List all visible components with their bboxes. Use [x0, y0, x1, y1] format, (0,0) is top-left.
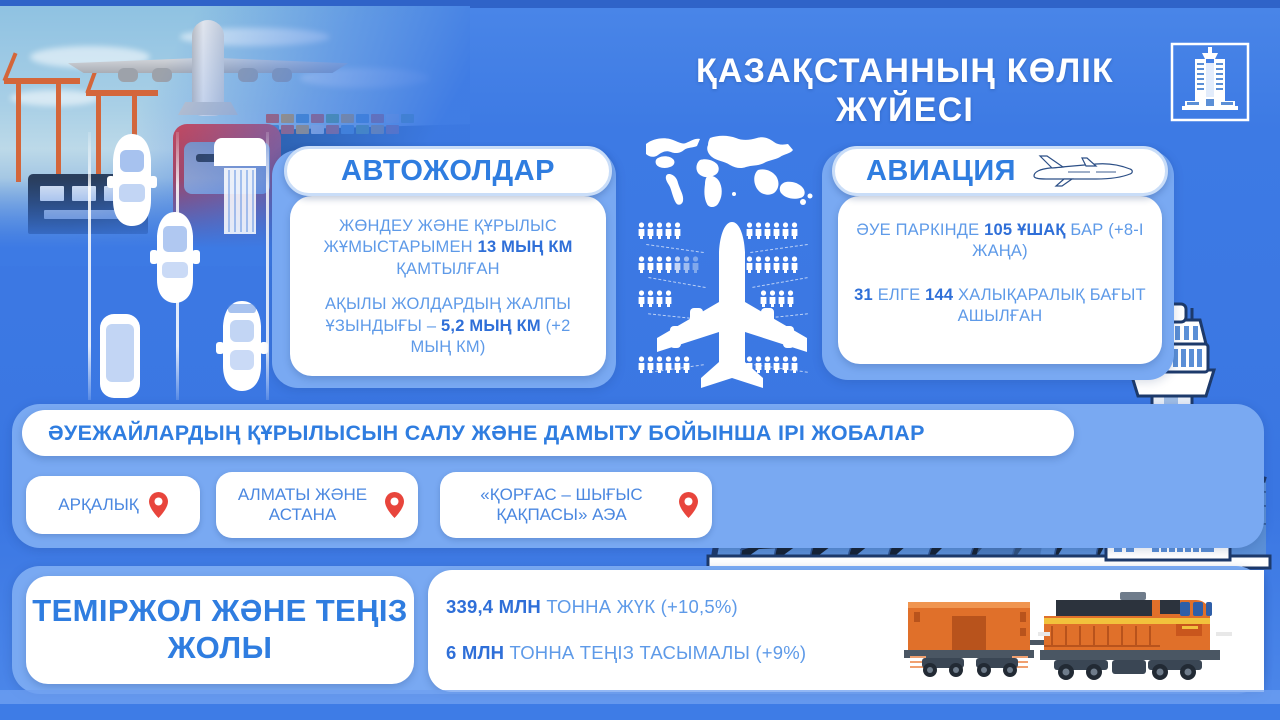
roads-paragraph-2: АҚЫЛЫ ЖОЛДАРДЫҢ ЖАЛПЫ ҰЗЫНДЫҒЫ – 5,2 МЫҢ…	[312, 294, 584, 358]
chip-label: АЛМАТЫ ЖӘНЕ АСТАНА	[230, 485, 375, 525]
truck-top-icon	[210, 134, 270, 242]
roads-card: ЖӨНДЕУ ЖӘНЕ ҚҰРЫЛЫС ЖҰМЫСТАРЫМЕН 13 МЫҢ …	[290, 196, 606, 376]
car-top-icon	[214, 298, 270, 394]
government-building-logo-icon	[1169, 41, 1251, 123]
aviation-title: АВИАЦИЯ	[866, 155, 1016, 188]
airport-projects-title: ӘУЕЖАЙЛАРДЫҢ ҚҰРЫЛЫСЫН САЛУ ЖӘНЕ ДАМЫТУ …	[48, 421, 925, 446]
railway-title: ТЕМІРЖОЛ ЖӘНЕ ТЕҢІЗ ЖОЛЫ	[26, 593, 414, 666]
bottom-strip	[0, 704, 1280, 720]
railway-title-card: ТЕМІРЖОЛ ЖӘНЕ ТЕҢІЗ ЖОЛЫ	[26, 576, 414, 684]
airplane-side-icon	[1026, 154, 1134, 188]
car-top-icon	[148, 210, 202, 304]
roads-title: АВТОЖОЛДАР	[341, 155, 555, 188]
aviation-title-pill[interactable]: АВИАЦИЯ	[832, 146, 1168, 196]
airport-chip-khorgos[interactable]: «ҚОРҒАС – ШЫҒЫС ҚАҚПАСЫ» АЭА	[440, 472, 712, 538]
roads-paragraph-1: ЖӨНДЕУ ЖӘНЕ ҚҰРЫЛЫС ЖҰМЫСТАРЫМЕН 13 МЫҢ …	[312, 216, 584, 280]
chip-label: АРҚАЛЫҚ	[58, 495, 138, 515]
aviation-paragraph-2: 31 ЕЛГЕ 144 ХАЛЫҚАРАЛЫҚ БАҒЫТ АШЫЛҒАН	[854, 285, 1146, 328]
airport-projects-title-card: ӘУЕЖАЙЛАРДЫҢ ҚҰРЫЛЫСЫН САЛУ ЖӘНЕ ДАМЫТУ …	[22, 410, 1074, 456]
page-title: ҚАЗАҚСТАННЫҢ КӨЛІК ЖҮЙЕСІ	[660, 52, 1150, 130]
van-top-icon	[92, 310, 148, 402]
airport-chip-arkalyk[interactable]: АРҚАЛЫҚ	[26, 476, 200, 534]
aviation-card: ӘУЕ ПАРКІНДЕ 105 ҰШАҚ БАР (+8-І ЖАҢА) 31…	[838, 196, 1162, 364]
map-pin-icon	[149, 492, 168, 518]
aviation-paragraph-1: ӘУЕ ПАРКІНДЕ 105 ҰШАҚ БАР (+8-І ЖАҢА)	[854, 220, 1146, 263]
road-cars-illustration	[88, 128, 298, 410]
roads-title-pill[interactable]: АВТОЖОЛДАР	[284, 146, 612, 196]
map-pin-icon	[385, 492, 404, 518]
infographic-canvas: ҚАЗАҚСТАННЫҢ КӨЛІК ЖҮЙЕСІ ЖӨ	[0, 0, 1280, 720]
map-pin-icon	[679, 492, 698, 518]
train-icon	[880, 580, 1270, 688]
chip-label: «ҚОРҒАС – ШЫҒЫС ҚАҚПАСЫ» АЭА	[454, 485, 669, 525]
airport-chip-almaty-astana[interactable]: АЛМАТЫ ЖӘНЕ АСТАНА	[216, 472, 418, 538]
bottom-band	[0, 690, 1280, 704]
world-map-icon	[640, 130, 820, 214]
